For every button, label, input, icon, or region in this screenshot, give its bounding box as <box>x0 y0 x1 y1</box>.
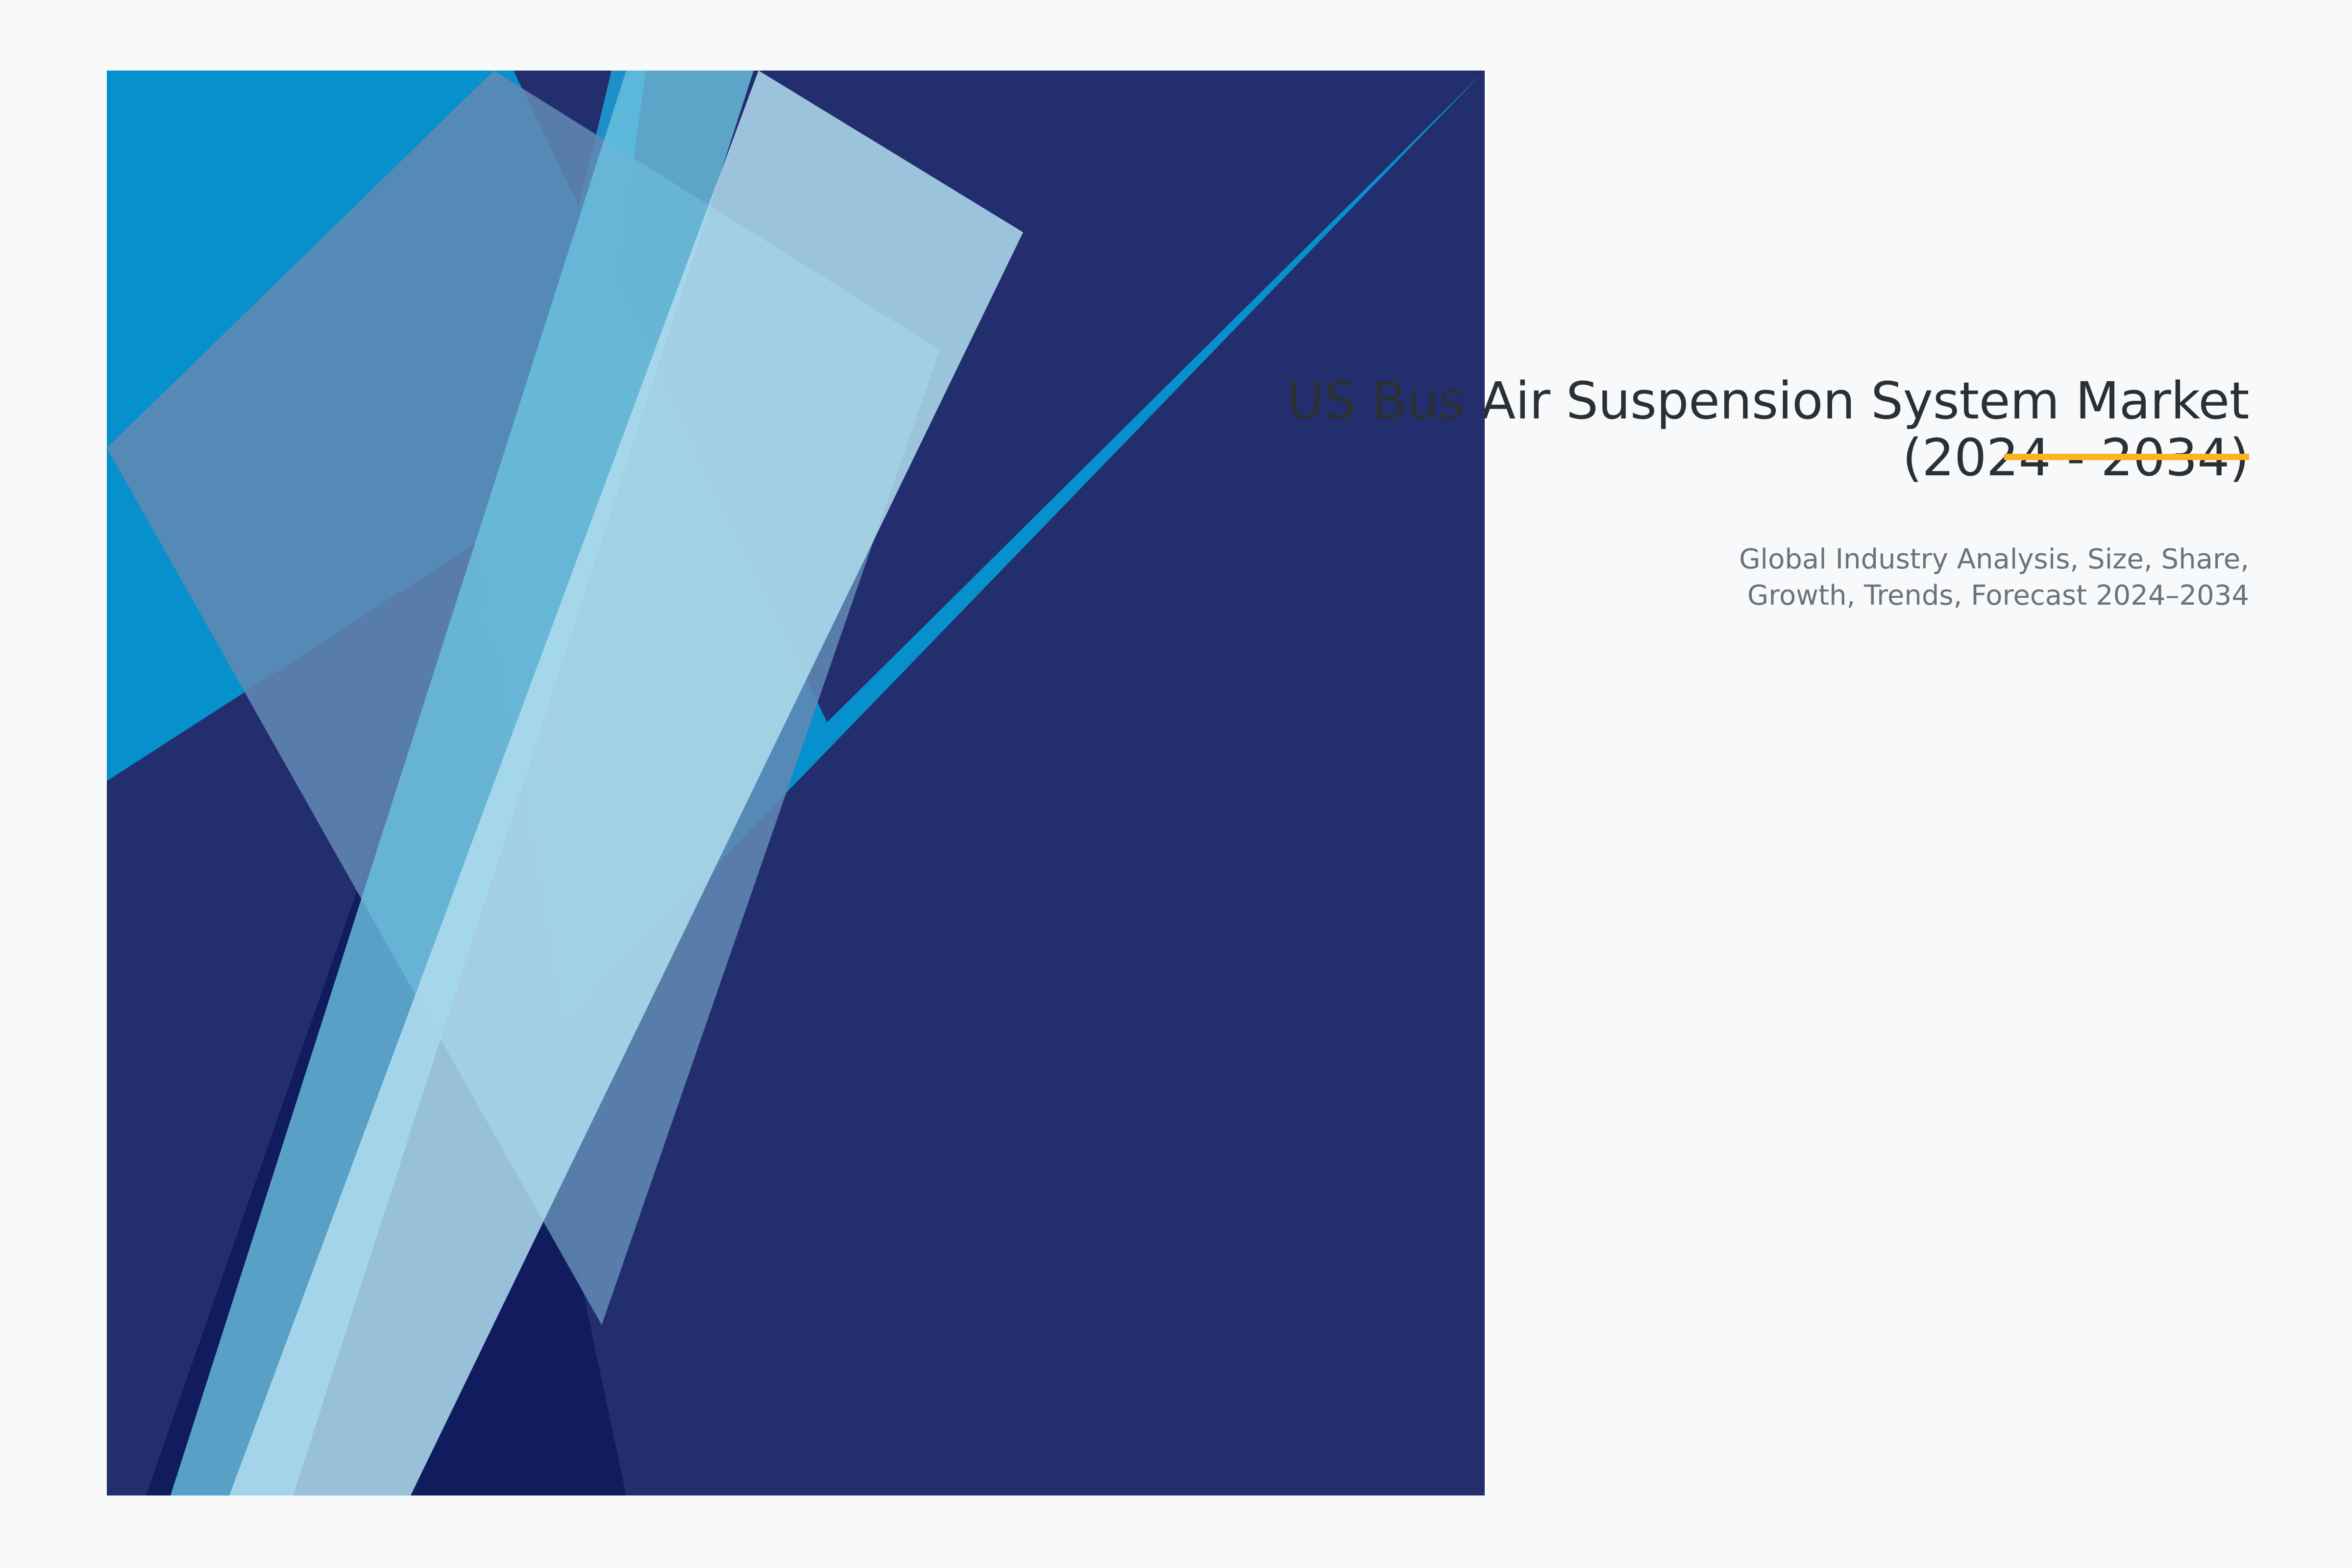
cover-artwork <box>107 71 1485 1495</box>
cover-text-block: US Bus Air Suspension System Market (202… <box>1274 372 2249 614</box>
artwork-svg <box>107 71 1485 1495</box>
cover-page: US Bus Air Suspension System Market (202… <box>0 0 2352 1568</box>
page-title: US Bus Air Suspension System Market (202… <box>1274 372 2249 487</box>
title-underline-accent-bar <box>2004 454 2249 460</box>
title-wrapper: US Bus Air Suspension System Market (202… <box>1274 372 2249 487</box>
page-subtitle: Global Industry Analysis, Size, Share, G… <box>1274 541 2249 614</box>
